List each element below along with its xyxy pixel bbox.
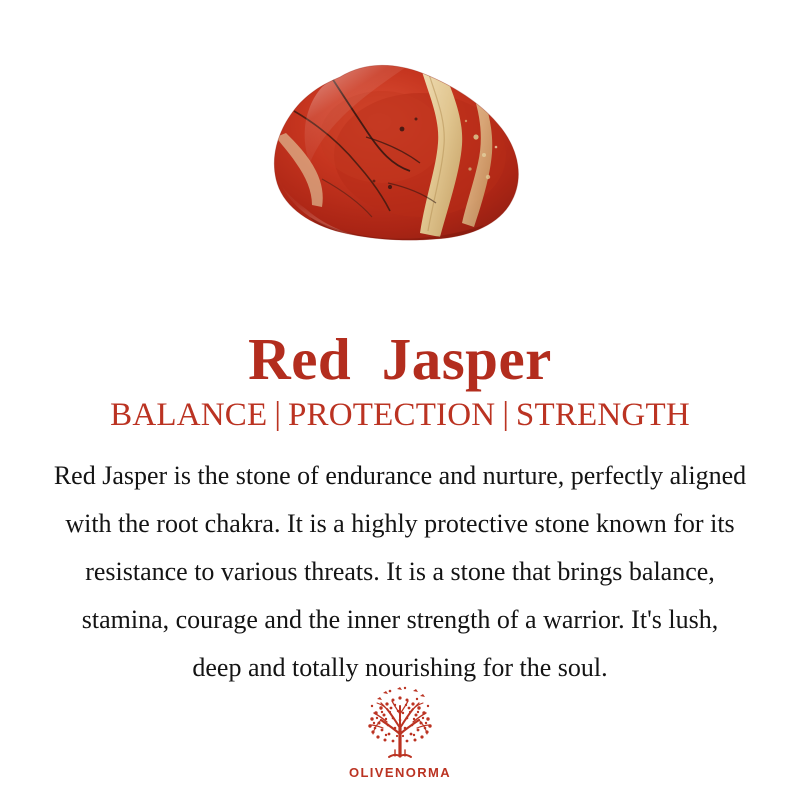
keyword-strength: STRENGTH [516,397,690,433]
page-title: Red Jasper [0,328,800,390]
brand-wordmark: OLIVENORMA [349,765,451,780]
description-line: resistance to various threats. It is a s… [8,548,792,596]
description-line: stamina, courage and the inner strength … [8,596,792,644]
description-line: with the root chakra. It is a highly pro… [8,500,792,548]
stone-image-container [0,54,800,250]
keyword-list: BALANCE|PROTECTION|STRENGTH [0,396,800,434]
keyword-separator: | [267,395,288,433]
tree-icon [357,684,443,762]
red-jasper-info-card: Red Jasper BALANCE|PROTECTION|STRENGTH R… [0,0,800,800]
brand-logo: OLIVENORMA [0,684,800,780]
keyword-balance: BALANCE [110,397,267,433]
description-text: Red Jasper is the stone of endurance and… [8,452,792,692]
red-jasper-stone-image [270,59,530,245]
keyword-protection: PROTECTION [288,397,495,433]
keyword-separator: | [495,395,516,433]
description-line: Red Jasper is the stone of endurance and… [8,452,792,500]
